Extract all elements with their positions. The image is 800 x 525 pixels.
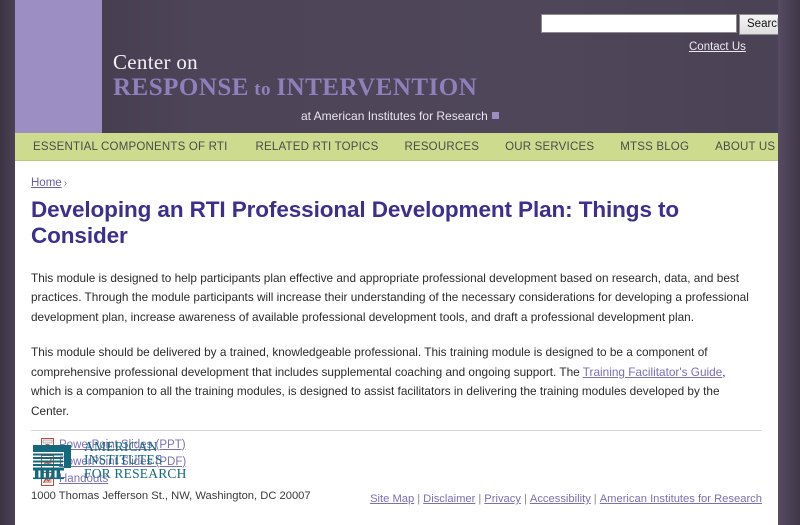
nav-item-about-us[interactable]: ABOUT US xyxy=(715,141,775,153)
footer-link-separator: | xyxy=(594,493,597,505)
footer-link-separator: | xyxy=(478,493,481,505)
delivery-paragraph: This module should be delivered by a tra… xyxy=(31,343,758,421)
logo-to-word: to xyxy=(249,79,276,100)
breadcrumb-home-link[interactable]: Home xyxy=(31,177,62,189)
footer-link-separator: | xyxy=(417,493,420,505)
footer-link-separator: | xyxy=(524,493,527,505)
content-inner: Home› Developing an RTI Professional Dev… xyxy=(15,161,778,486)
logo-intervention-word: INTERVENTION xyxy=(276,74,477,101)
footer-divider xyxy=(31,430,762,431)
page-title: Developing an RTI Professional Developme… xyxy=(31,197,762,249)
logo-subtitle: at American Institutes for Research xyxy=(301,109,499,123)
site-logo[interactable]: Center on RESPONSE to INTERVENTION xyxy=(113,52,477,103)
nav-item-mtss-blog[interactable]: MTSS BLOG xyxy=(620,141,689,153)
footer-link-privacy[interactable]: Privacy xyxy=(484,493,521,505)
air-logo[interactable]: AMERICAN INSTITUTES FOR RESEARCH xyxy=(31,439,762,481)
air-columns-icon xyxy=(31,440,79,480)
training-facilitators-guide-link[interactable]: Training Facilitator's Guide xyxy=(583,365,723,379)
breadcrumb: Home› xyxy=(31,177,762,189)
intro-paragraph: This module is designed to help particip… xyxy=(31,269,758,328)
contact-us-link[interactable]: Contact Us xyxy=(689,41,746,53)
page-left-edge xyxy=(0,0,15,525)
logo-subtitle-text: at American Institutes for Research xyxy=(301,109,488,123)
logo-line-response-to-intervention: RESPONSE to INTERVENTION xyxy=(113,74,477,103)
footer-link-american-institutes-for-research[interactable]: American Institutes for Research xyxy=(600,493,762,505)
air-line-3: FOR RESEARCH xyxy=(84,467,187,481)
logo-line-center-on: Center on xyxy=(113,52,477,73)
main-content: Home› Developing an RTI Professional Dev… xyxy=(15,161,778,525)
logo-square-icon xyxy=(492,112,499,119)
air-line-1: AMERICAN xyxy=(84,440,187,454)
search-form[interactable]: Search xyxy=(541,14,791,35)
search-input[interactable] xyxy=(541,14,737,33)
nav-item-essential-components-of-rti[interactable]: ESSENTIAL COMPONENTS OF RTI xyxy=(33,141,228,153)
nav-item-resources[interactable]: RESOURCES xyxy=(404,141,479,153)
page-right-edge xyxy=(778,0,800,525)
nav-item-related-rti-topics[interactable]: RELATED RTI TOPICS xyxy=(256,141,379,153)
main-navigation: ESSENTIAL COMPONENTS OF RTI RELATED RTI … xyxy=(15,133,778,161)
footer-links: Site Map|Disclaimer|Privacy|Accessibilit… xyxy=(370,493,762,505)
header-accent-block xyxy=(15,0,102,133)
breadcrumb-separator: › xyxy=(64,178,67,189)
site-footer: AMERICAN INSTITUTES FOR RESEARCH 1000 Th… xyxy=(31,439,762,502)
footer-link-accessibility[interactable]: Accessibility xyxy=(530,493,591,505)
site-header: Center on RESPONSE to INTERVENTION at Am… xyxy=(0,0,800,133)
page-root: Center on RESPONSE to INTERVENTION at Am… xyxy=(0,0,800,525)
air-line-2: INSTITUTES xyxy=(84,453,187,467)
air-wordmark: AMERICAN INSTITUTES FOR RESEARCH xyxy=(84,440,187,481)
logo-response-word: RESPONSE xyxy=(113,74,249,101)
nav-item-our-services[interactable]: OUR SERVICES xyxy=(505,141,594,153)
footer-link-site-map[interactable]: Site Map xyxy=(370,493,414,505)
footer-link-disclaimer[interactable]: Disclaimer xyxy=(423,493,475,505)
